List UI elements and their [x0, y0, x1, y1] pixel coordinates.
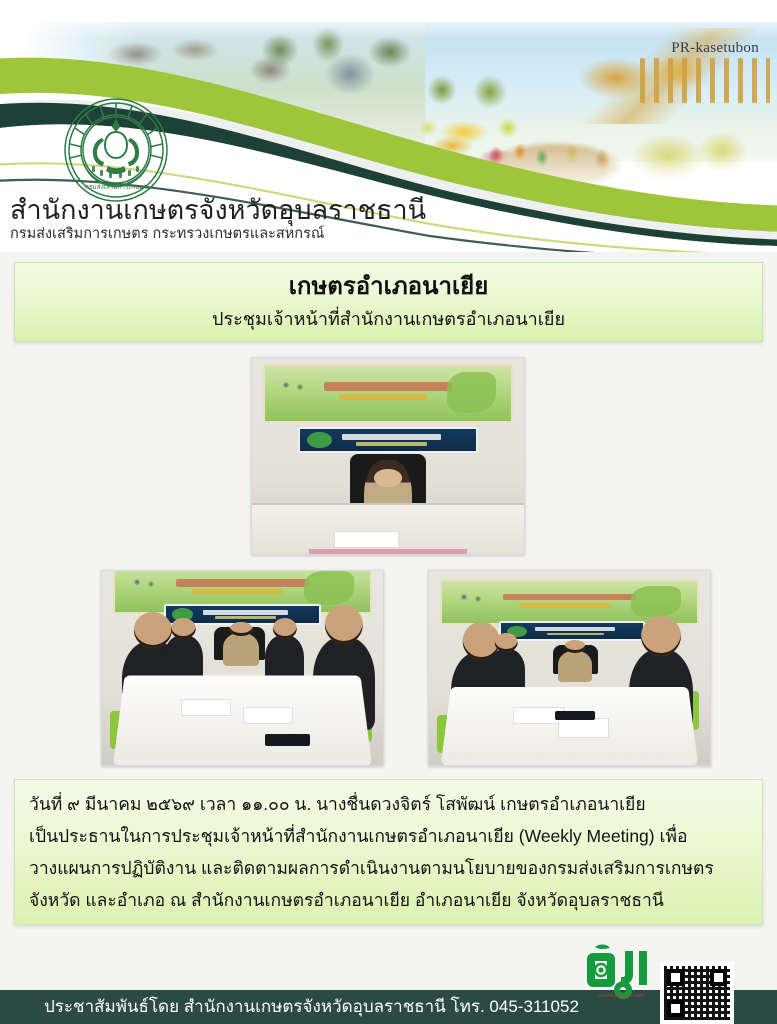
calculator: [265, 734, 310, 746]
meeting-documents: [181, 699, 232, 716]
organization-name-block: สำนักงานเกษตรจังหวัดอุบลราชธานี กรมส่งเส…: [10, 196, 426, 244]
department-of-agricultural-extension-seal-icon: กรมส่งเสริมการเกษตร: [62, 96, 170, 204]
banner-title-text-block: [324, 382, 452, 391]
organization-name: สำนักงานเกษตรจังหวัดอุบลราชธานี: [10, 196, 426, 225]
blue-banner-title-block: [535, 627, 615, 631]
person-chairperson: [223, 633, 260, 666]
office-banner-blue: [298, 427, 478, 453]
banner-kids-graphic: [131, 576, 172, 598]
photo-meeting-angle-2: [428, 570, 711, 766]
qr-finder-top-right: [710, 969, 727, 986]
qr-finder-bottom-left: [667, 1000, 684, 1017]
title-card: เกษตรอำเภอนาเยีย ประชุมเจ้าหน้าที่สำนักง…: [14, 262, 763, 342]
person-chairperson: [558, 651, 592, 682]
footer-contact-text: ประชาสัมพันธ์โดย สำนักงานเกษตรจังหวัดอุบ…: [44, 996, 579, 1018]
body-line: จังหวัด และอำเภอ ณ สำนักงานเกษตรอำเภอนาเ…: [29, 884, 750, 916]
banner-subtitle-text-block: [519, 603, 611, 608]
office-banner-blue: [499, 621, 645, 640]
meeting-documents: [558, 718, 609, 737]
blue-banner-subtitle-block: [547, 633, 604, 636]
notebook-stack: [555, 711, 594, 721]
svg-text:กรมส่งเสริมการเกษตร: กรมส่งเสริมการเกษตร: [597, 992, 645, 999]
desk-documents: [334, 531, 399, 549]
photo-chief-at-desk: [251, 357, 525, 555]
desk-pink-cloth: [309, 549, 467, 554]
doae-green-logo-icon: กรมส่งเสริมการเกษตร: [587, 941, 655, 1001]
organization-subtitle: กรมส่งเสริมการเกษตร กระทรวงเกษตรและสหกรณ…: [10, 226, 426, 243]
meeting-documents: [243, 707, 294, 724]
body-line: วันที่ ๙ มีนาคม ๒๕๖๙ เวลา ๑๑.๐๐ น. นางชื…: [29, 788, 750, 820]
banner-title-text-block: [503, 594, 635, 601]
photo-meeting-angle-1: [101, 570, 384, 766]
qr-finder-top-left: [667, 969, 684, 986]
banner-title-text-block: [176, 579, 308, 586]
poster-page: PR-kasetubon: [0, 0, 777, 1024]
header-banner: PR-kasetubon: [0, 0, 777, 252]
banner-kids-graphic: [280, 379, 319, 405]
office-banner-green: [263, 364, 513, 423]
body-line: วางแผนการปฏิบัติงาน และติดตามผลการดำเนิน…: [29, 852, 750, 884]
blue-banner-title-block: [203, 610, 289, 615]
svg-text:กรมส่งเสริมการเกษตร: กรมส่งเสริมการเกษตร: [85, 183, 148, 191]
banner-subtitle-text-block: [192, 589, 284, 594]
banner-subtitle-text-block: [339, 394, 428, 400]
body-line: เป็นประธานในการประชุมเจ้าหน้าที่สำนักงาน…: [29, 820, 750, 852]
blue-banner-title-block: [342, 434, 440, 440]
blue-banner-subtitle-block: [215, 616, 276, 619]
announcement-body-card: วันที่ ๙ มีนาคม ๒๕๖๙ เวลา ๑๑.๐๐ น. นางชื…: [14, 779, 763, 925]
page-title: เกษตรอำเภอนาเยีย: [15, 272, 762, 302]
pr-watermark-text: PR-kasetubon: [671, 40, 759, 57]
banner-kids-graphic: [458, 591, 499, 611]
page-subtitle: ประชุมเจ้าหน้าที่สำนักงานเกษตรอำเภอนาเยี…: [15, 308, 762, 331]
blue-banner-subtitle-block: [356, 442, 426, 446]
qr-code[interactable]: [660, 962, 734, 1024]
